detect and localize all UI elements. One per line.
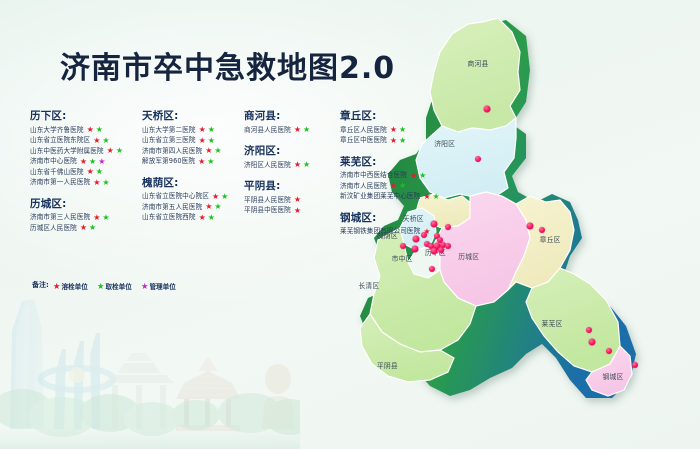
- hospital-marks: ★★: [199, 214, 215, 222]
- hospital-row[interactable]: 济南市人民医院★★: [340, 182, 480, 190]
- hospital-row[interactable]: 山东中医药大学附属医院★★: [30, 147, 142, 155]
- hospital-row[interactable]: 莱芜钢铁集团有限公司医院★: [340, 228, 480, 236]
- hospital-name: 山东省千佛山医院: [30, 169, 84, 176]
- district-group-title: 商河县:: [244, 108, 340, 123]
- hospital-row[interactable]: 济南市第三人民医院★★: [30, 214, 142, 222]
- star-icon-red: ★: [87, 168, 94, 176]
- hospital-name: 平阴县中医医院: [244, 207, 291, 214]
- star-icon-green: ★: [89, 158, 96, 166]
- hospital-name: 历城区人民医院: [30, 225, 77, 232]
- hospital-marks: ★★: [199, 137, 215, 145]
- star-icon-red: ★: [294, 161, 301, 169]
- buddha-statue: [262, 364, 294, 429]
- star-icon-red: ★: [199, 137, 206, 145]
- hospital-row[interactable]: 济南市第一人民医院★★: [30, 179, 142, 187]
- hospital-marks: ★★: [198, 158, 214, 166]
- district-group-title: 槐荫区:: [142, 175, 244, 190]
- star-icon-green: ★: [303, 126, 310, 134]
- hospital-marks: ★: [294, 207, 301, 215]
- hospital-marks: ★★: [205, 203, 221, 211]
- district-group: 槐荫区:山东省立医院中心院区★★济南市第五人民医院★★山东省立医院西院★★: [142, 175, 244, 222]
- star-icon-red: ★: [423, 228, 430, 236]
- hospital-marks: ★★: [80, 224, 96, 232]
- star-icon-red: ★: [93, 214, 100, 222]
- hospital-name: 济南市第一人民医院: [30, 179, 90, 186]
- hospital-marks: ★★★: [80, 158, 106, 166]
- hospital-pin[interactable]: [586, 327, 592, 333]
- star-icon-green: ★: [399, 137, 406, 145]
- hospital-name: 新汶矿业集团莱芜中心医院: [340, 193, 420, 200]
- hospital-marks: ★★: [423, 193, 439, 201]
- remark-item-label: 管理单位: [149, 281, 175, 291]
- hospital-marks: ★: [294, 196, 301, 204]
- star-icon-red: ★: [198, 158, 205, 166]
- foliage-band: [0, 389, 300, 437]
- star-icon-red: ★: [423, 193, 430, 201]
- hospital-name: 济南市第四人民医院: [142, 148, 202, 155]
- directory-column-4: 章丘区:章丘区人民医院★★章丘区中医医院★★莱芜区:济南市中西医结合医院★★济南…: [340, 108, 480, 245]
- hospital-row[interactable]: 商河县人民医院★★: [244, 126, 340, 134]
- star-icon-red: ★: [205, 203, 212, 211]
- directory-column-1: 历下区:山东大学齐鲁医院★★山东省立医院东院区★★山东中医药大学附属医院★★济南…: [30, 108, 142, 241]
- district-group-title: 历下区:: [30, 108, 142, 123]
- star-icon-red: ★: [294, 126, 301, 134]
- district-group: 莱芜区:济南市中西医结合医院★★济南市人民医院★★新汶矿业集团莱芜中心医院★★: [340, 154, 480, 201]
- star-icon-red: ★: [87, 126, 94, 134]
- hospital-row[interactable]: 济南市第四人民医院★★: [142, 147, 244, 155]
- hospital-row[interactable]: 济南市第五人民医院★★: [142, 203, 244, 211]
- star-icon-red: ★: [390, 126, 397, 134]
- hospital-name: 莱芜钢铁集团有限公司医院: [340, 228, 420, 235]
- hospital-name: 章丘区人民医院: [340, 127, 387, 134]
- star-icon-red: ★: [294, 196, 301, 204]
- hospital-pin[interactable]: [606, 348, 612, 354]
- district-group: 钢城区:莱芜钢铁集团有限公司医院★: [340, 210, 480, 236]
- remark-label: 备注:: [32, 280, 49, 290]
- hospital-name: 济南市第五人民医院: [142, 204, 202, 211]
- star-icon-green: ★: [303, 161, 310, 169]
- paifang-gate: [104, 353, 174, 429]
- district-group: 历城区:济南市第三人民医院★★历城区人民医院★★: [30, 196, 142, 233]
- district-group: 平阴县:平阴县人民医院★平阴县中医医院★: [244, 178, 340, 215]
- hospital-marks: ★★: [199, 126, 215, 134]
- tower-highlight: [14, 305, 30, 429]
- hospital-marks: ★★: [294, 126, 310, 134]
- star-icon-red: ★: [390, 137, 397, 145]
- hospital-name: 山东省立第三医院: [142, 137, 196, 144]
- district-group-title: 历城区:: [30, 196, 142, 211]
- hospital-marks: ★★: [87, 126, 103, 134]
- hospital-pin[interactable]: [412, 245, 419, 252]
- remark-item: ★取栓单位: [97, 281, 132, 291]
- star-icon-red: ★: [205, 147, 212, 155]
- hospital-row[interactable]: 山东省立医院西院★★: [142, 214, 244, 222]
- hospital-name: 山东省立医院东院区: [30, 137, 90, 144]
- remark-item: ★溶栓单位: [53, 281, 88, 291]
- district-group-title: 平阴县:: [244, 178, 340, 193]
- star-icon-green: ★: [214, 147, 221, 155]
- star-icon-red: ★: [390, 182, 397, 190]
- remark-items: ★溶栓单位★取栓单位★管理单位: [53, 276, 185, 294]
- hospital-name: 济南市中西医结合医院: [340, 172, 407, 179]
- hospital-pin[interactable]: [484, 105, 491, 112]
- hospital-name: 平阴县人民医院: [244, 197, 291, 204]
- hospital-marks: ★★: [87, 168, 103, 176]
- district-group: 章丘区:章丘区人民医院★★章丘区中医医院★★: [340, 108, 480, 145]
- hospital-pin[interactable]: [588, 339, 595, 346]
- hospital-row[interactable]: 历城区人民医院★★: [30, 224, 142, 232]
- star-icon-green: ★: [102, 137, 109, 145]
- hospital-row[interactable]: 济南市中心医院★★★: [30, 158, 142, 166]
- hospital-marks: ★★: [93, 179, 109, 187]
- star-icon-green: ★: [399, 182, 406, 190]
- hospital-marks: ★★: [205, 147, 221, 155]
- hospital-pin[interactable]: [539, 227, 545, 233]
- hospital-marks: ★★: [93, 214, 109, 222]
- remark-item: ★管理单位: [141, 281, 176, 291]
- star-icon-red: ★: [199, 214, 206, 222]
- star-icon-green: ★: [207, 158, 214, 166]
- star-icon-green: ★: [399, 126, 406, 134]
- hospital-row[interactable]: 山东大学齐鲁医院★★: [30, 126, 142, 134]
- hospital-name: 山东省立医院西院: [142, 214, 196, 221]
- hospital-row[interactable]: 平阴县中医医院★: [244, 207, 340, 215]
- hospital-name: 山东大学第二医院: [142, 127, 196, 134]
- star-icon-green: ★: [419, 172, 426, 180]
- jinan-skyline-illustration: [0, 279, 300, 449]
- star-icon-green: ★: [433, 193, 440, 201]
- district-group-title: 莱芜区:: [340, 154, 480, 169]
- directory-column-2: 天桥区:山东大学第二医院★★山东省立第三医院★★济南市第四人民医院★★解放军第9…: [142, 108, 244, 231]
- hospital-marks: ★★: [212, 193, 228, 201]
- quanbiao-sculpture: [41, 333, 113, 429]
- star-icon-green: ★: [208, 126, 215, 134]
- hospital-marks: ★★: [390, 182, 406, 190]
- page-title: 济南市卒中急救地图2.0: [60, 43, 395, 87]
- star-icon-green: ★: [221, 193, 228, 201]
- district-group: 济阳区:济阳区人民医院★★: [244, 143, 340, 169]
- hospital-pin[interactable]: [526, 222, 533, 229]
- hospital-marks: ★★: [390, 137, 406, 145]
- star-icon-magenta: ★: [141, 282, 149, 291]
- star-icon-red: ★: [80, 224, 87, 232]
- star-icon-red: ★: [199, 126, 206, 134]
- hospital-pin[interactable]: [632, 362, 638, 368]
- hospital-marks: ★★: [390, 126, 406, 134]
- star-icon-green: ★: [208, 214, 215, 222]
- hospital-row[interactable]: 山东省千佛山医院★★: [30, 168, 142, 176]
- pavilion: [176, 357, 240, 431]
- hospital-name: 济南市第三人民医院: [30, 214, 90, 221]
- star-icon-magenta: ★: [98, 158, 105, 166]
- star-icon-red: ★: [93, 179, 100, 187]
- hospital-name: 商河县人民医院: [244, 127, 291, 134]
- district-group: 历下区:山东大学齐鲁医院★★山东省立医院东院区★★山东中医药大学附属医院★★济南…: [30, 108, 142, 187]
- tower-silhouette: [10, 299, 44, 429]
- hospital-pin[interactable]: [438, 247, 444, 253]
- stroke-emergency-map-poster: 商河县济阳区天桥区槐荫区市中区历下区历城区章丘区长清区莱芜区平阴县钢城区 济南市…: [0, 0, 700, 449]
- remark-item-label: 取栓单位: [105, 281, 131, 291]
- district-group: 天桥区:山东大学第二医院★★山东省立第三医院★★济南市第四人民医院★★解放军第9…: [142, 108, 244, 166]
- hospital-row[interactable]: 平阴县人民医院★: [244, 196, 340, 204]
- hospital-marks: ★★: [410, 172, 426, 180]
- hospital-name: 章丘区中医医院: [340, 137, 387, 144]
- hospital-row[interactable]: 济南市中西医结合医院★★: [340, 172, 480, 180]
- star-icon-red: ★: [80, 158, 87, 166]
- hospital-name: 山东大学齐鲁医院: [30, 127, 84, 134]
- hospital-row[interactable]: 解放军第960医院★★: [142, 158, 244, 166]
- star-icon-green: ★: [96, 126, 103, 134]
- star-icon-red: ★: [93, 137, 100, 145]
- district-group-title: 钢城区:: [340, 210, 480, 225]
- star-icon-green: ★: [102, 179, 109, 187]
- hospital-name: 济南市人民医院: [340, 183, 387, 190]
- hospital-name: 济南市中心医院: [30, 158, 77, 165]
- hospital-pin[interactable]: [429, 266, 435, 272]
- directory-column-3: 商河县:商河县人民医院★★济阳区:济阳区人民医院★★平阴县:平阴县人民医院★平阴…: [244, 108, 340, 224]
- hospital-marks: ★: [423, 228, 430, 236]
- star-icon-green: ★: [102, 214, 109, 222]
- hospital-row[interactable]: 济阳区人民医院★★: [244, 161, 340, 169]
- hospital-row[interactable]: 山东省立医院中心院区★★: [142, 193, 244, 201]
- star-icon-green: ★: [97, 282, 105, 291]
- star-icon-green: ★: [214, 203, 221, 211]
- star-icon-red: ★: [212, 193, 219, 201]
- hospital-row[interactable]: 山东大学第二医院★★: [142, 126, 244, 134]
- hospital-row[interactable]: 山东省立医院东院区★★: [30, 137, 142, 145]
- hospital-row[interactable]: 章丘区人民医院★★: [340, 126, 480, 134]
- star-icon-green: ★: [208, 137, 215, 145]
- hospital-marks: ★★: [93, 137, 109, 145]
- district-group-title: 章丘区:: [340, 108, 480, 123]
- hospital-name: 山东省立医院中心院区: [142, 193, 209, 200]
- hospital-marks: ★★: [294, 161, 310, 169]
- hospital-name: 山东中医药大学附属医院: [30, 148, 104, 155]
- star-icon-red: ★: [294, 207, 301, 215]
- hospital-pin[interactable]: [430, 247, 437, 254]
- star-icon-green: ★: [96, 168, 103, 176]
- star-icon-red: ★: [53, 282, 61, 291]
- hospital-row[interactable]: 山东省立第三医院★★: [142, 137, 244, 145]
- legend-remark: 备注: ★溶栓单位★取栓单位★管理单位: [32, 276, 185, 294]
- star-icon-red: ★: [107, 147, 114, 155]
- star-icon-green: ★: [116, 147, 123, 155]
- hospital-name: 解放军第960医院: [142, 158, 195, 165]
- district-group-title: 济阳区:: [244, 143, 340, 158]
- hospital-marks: ★★: [107, 147, 123, 155]
- district-group-title: 天桥区:: [142, 108, 244, 123]
- star-icon-red: ★: [410, 172, 417, 180]
- hospital-row[interactable]: 章丘区中医医院★★: [340, 137, 480, 145]
- hospital-row[interactable]: 新汶矿业集团莱芜中心医院★★: [340, 193, 480, 201]
- hospital-name: 济阳区人民医院: [244, 162, 291, 169]
- remark-item-label: 溶栓单位: [61, 281, 87, 291]
- water-band: [0, 429, 300, 449]
- star-icon-green: ★: [89, 224, 96, 232]
- district-group: 商河县:商河县人民医院★★: [244, 108, 340, 134]
